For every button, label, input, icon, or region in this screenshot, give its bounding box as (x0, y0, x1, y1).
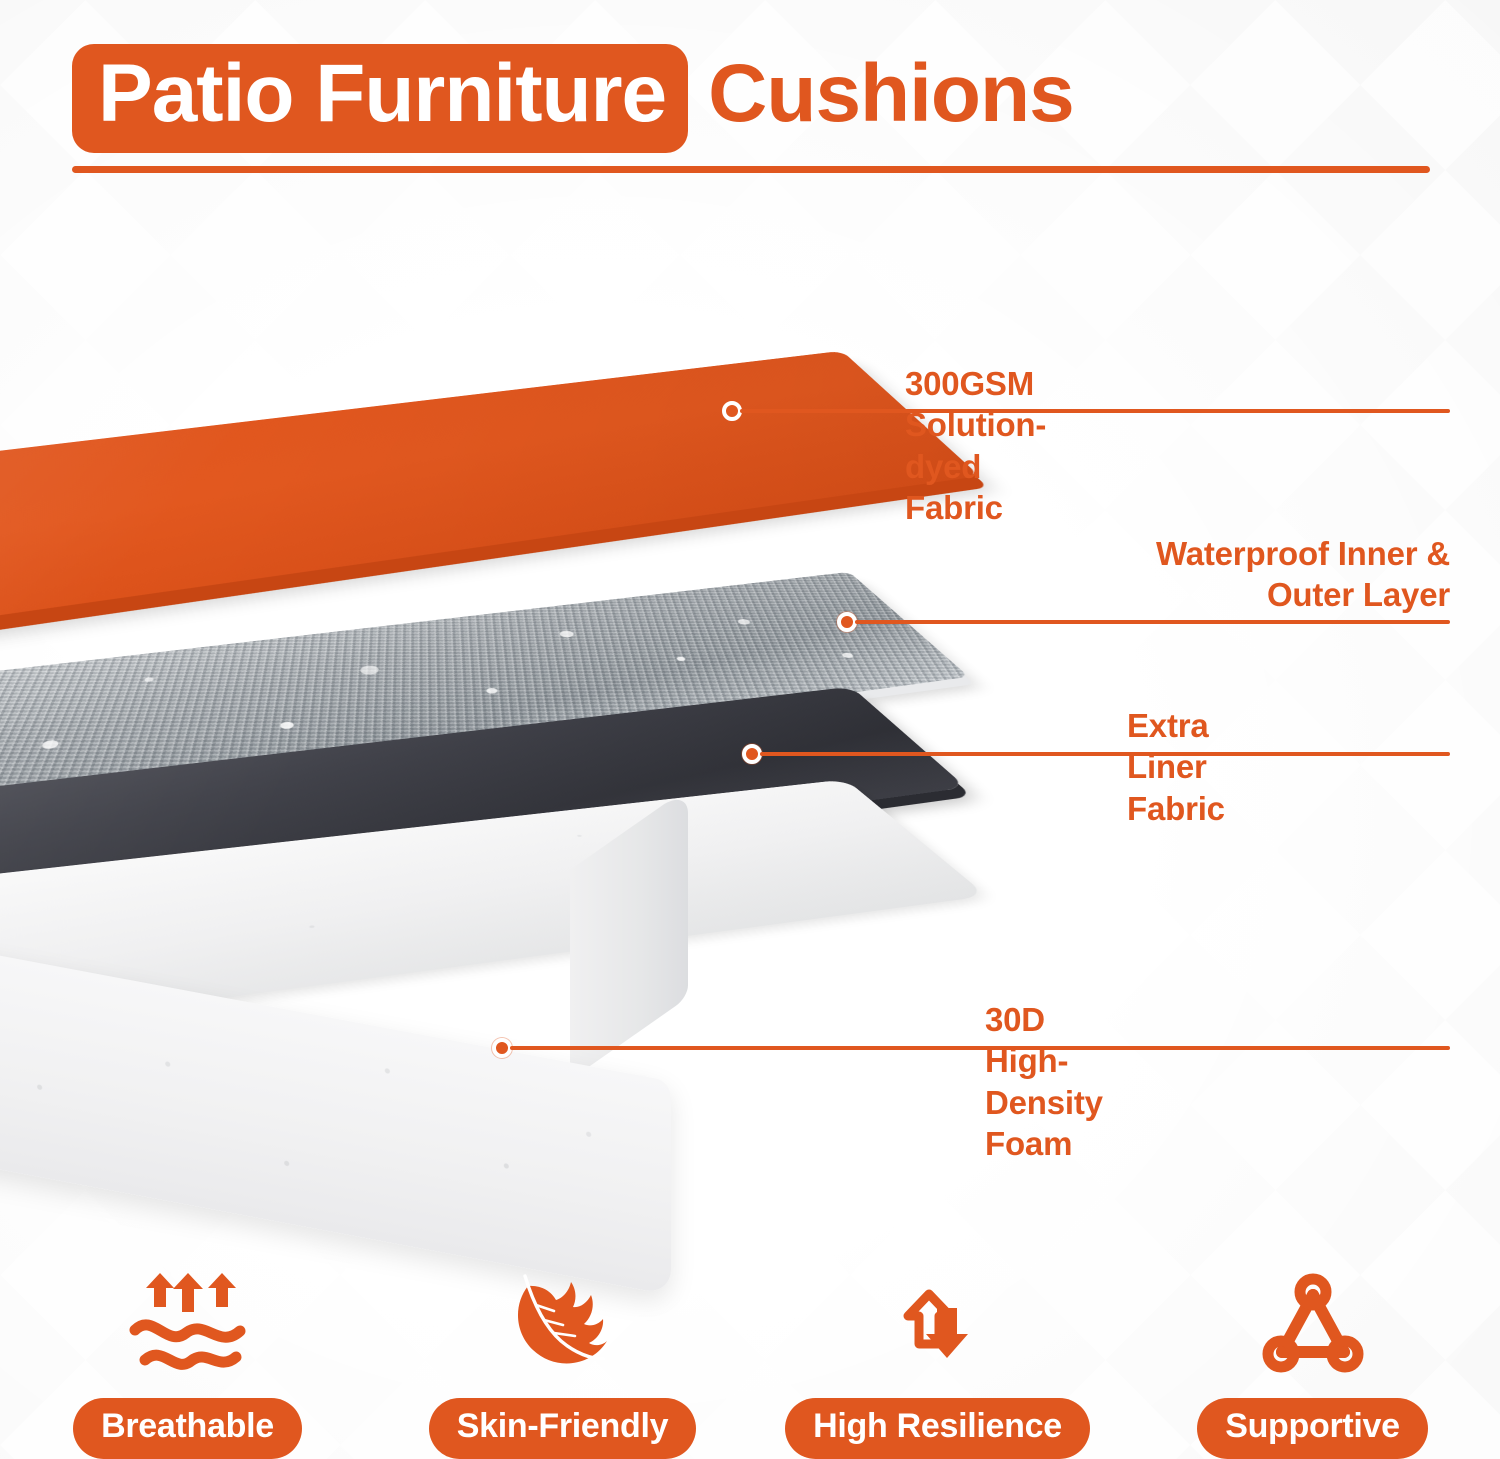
callout-dot-liner (742, 744, 762, 764)
callout-label-waterproof: Waterproof Inner & Outer Layer (950, 533, 1450, 616)
up-down-arrows-icon (882, 1270, 994, 1382)
callout-label-liner: Extra Liner Fabric (1127, 705, 1225, 829)
feature-strip: Breathable Skin-Friendly (0, 1245, 1500, 1459)
white-high-density-foam-block (0, 752, 1020, 1192)
feature-breathable[interactable]: Breathable (0, 1245, 375, 1459)
molecule-triangle-icon (1254, 1270, 1372, 1382)
callout-line-foam (510, 1046, 1450, 1050)
callout-dot-foam (492, 1038, 512, 1058)
callout-dot-fabric (722, 401, 742, 421)
callout-line-fabric (740, 409, 1450, 413)
callout-dot-waterproof (837, 612, 857, 632)
infographic-stage: Patio Furniture Cushions 300GSM Solution… (0, 0, 1500, 1459)
feature-badge-skin-friendly[interactable]: Skin-Friendly (429, 1398, 696, 1459)
callout-line-liner (760, 752, 1450, 756)
feature-badge-high-resilience[interactable]: High Resilience (785, 1398, 1090, 1459)
callout-label-fabric: 300GSM Solution-dyed Fabric (905, 363, 1046, 528)
feature-badge-supportive[interactable]: Supportive (1197, 1398, 1428, 1459)
feature-badge-breathable[interactable]: Breathable (73, 1398, 302, 1459)
feather-icon (499, 1270, 627, 1382)
feature-supportive[interactable]: Supportive (1125, 1245, 1500, 1459)
callout-label-foam: 30D High-Density Foam (985, 999, 1103, 1164)
feature-skin-friendly[interactable]: Skin-Friendly (375, 1245, 750, 1459)
callout-line-waterproof (855, 620, 1450, 624)
breathable-airflow-icon (123, 1270, 253, 1382)
feature-high-resilience[interactable]: High Resilience (750, 1245, 1125, 1459)
